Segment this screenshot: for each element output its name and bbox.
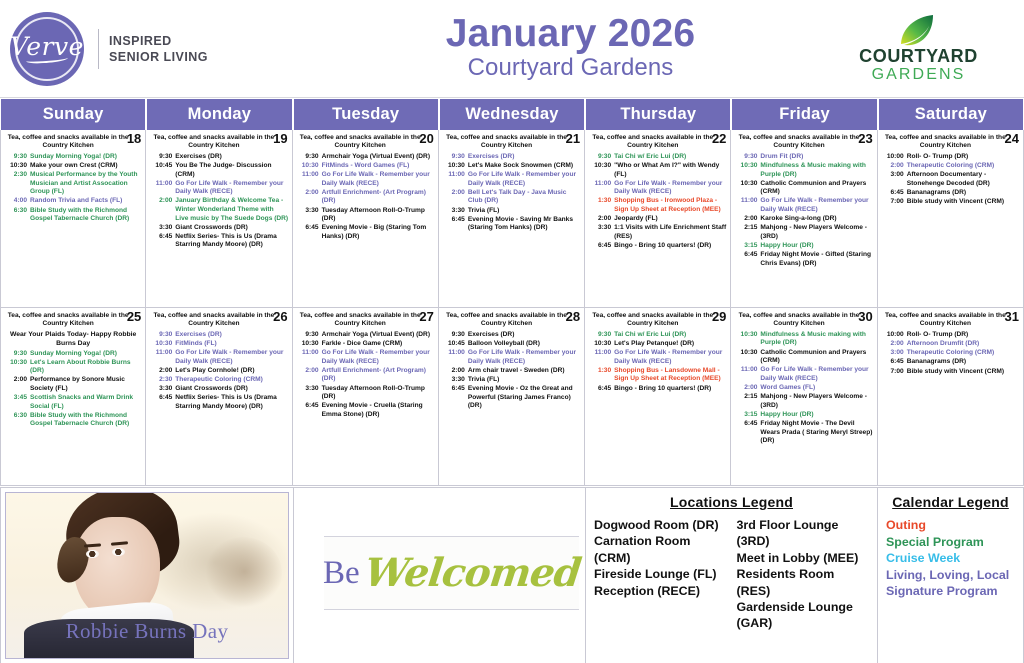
event-description: Go For Life Walk - Remember your Daily W… xyxy=(468,349,581,366)
calendar-event[interactable]: 6:45Netflix Series- This is Us (Drama St… xyxy=(149,394,288,411)
event-description: Word Games (FL) xyxy=(760,384,873,393)
event-description: Scottish Snacks and Warm Drink Social (F… xyxy=(30,394,142,411)
event-description: 1:1 Visits with Life Enrichment Staff (R… xyxy=(614,224,727,241)
calendar-event[interactable]: 11:00Go For Life Walk - Remember your Da… xyxy=(149,349,288,366)
day-number: 27 xyxy=(419,310,433,323)
calendar-event[interactable]: 2:00Performance by Sonore Music Society … xyxy=(4,376,142,393)
calendar-event[interactable]: 9:30Sunday Morning Yoga! (DR) xyxy=(4,153,142,162)
calendar-event[interactable]: 6:45Evening Movie - Saving Mr Banks (Sta… xyxy=(442,216,581,233)
event-description: Exercises (DR) xyxy=(175,153,288,162)
calendar-event[interactable]: 10:30FitMinds (FL) xyxy=(149,340,288,349)
event-time: 11:00 xyxy=(296,171,322,188)
event-description: Roll- O- Trump (DR) xyxy=(907,153,1020,162)
calendar-event[interactable]: 9:30Tai Chi w/ Eric Lui (DR) xyxy=(588,153,727,162)
locations-col-1: Dogwood Room (DR) Carnation Room (CRM) F… xyxy=(594,517,727,632)
event-time: 2:00 xyxy=(296,367,322,384)
event-time: 3:00 xyxy=(881,171,907,188)
calendar-event[interactable]: 3:30Giant Crosswords (DR) xyxy=(149,224,288,233)
event-description: Jeopardy (FL) xyxy=(614,215,727,224)
event-description: Tuesday Afternoon Roll-O-Trump (DR) xyxy=(322,207,435,224)
calendar-event[interactable]: 10:00Roll- O- Trump (DR) xyxy=(881,153,1020,162)
be-welcomed-panel: Be Welcomed xyxy=(294,488,586,663)
calendar-event[interactable]: 6:45Evening Movie - Big (Staring Tom Han… xyxy=(296,224,435,241)
event-description: Shopping Bus - Ironwood Plaza - Sign Up … xyxy=(614,197,727,214)
event-time: 6:45 xyxy=(296,402,322,419)
event-time: 10:30 xyxy=(734,180,760,197)
event-description: Mahjong - New Players Welcome - (3RD) xyxy=(760,393,873,410)
event-description: Let's Learn About Robbie Burns (DR) xyxy=(30,359,142,376)
event-description: Therapeutic Coloring (CRM) xyxy=(907,162,1020,171)
event-description: Let's Make Sock Snowmen (CRM) xyxy=(468,162,581,171)
event-time: 11:00 xyxy=(588,349,614,366)
event-time: 10:30 xyxy=(4,162,30,171)
event-time: 10:30 xyxy=(588,162,614,179)
community-name: Courtyard Gardens xyxy=(310,54,831,83)
calendar-week-row: 25Tea, coffee and snacks available in th… xyxy=(0,308,1024,486)
calendar-event[interactable]: 10:30FitMinds - Word Games (FL) xyxy=(296,162,435,171)
verve-tagline: INSPIRED SENIOR LIVING xyxy=(109,33,208,65)
calendar-event[interactable]: 2:15Mahjong - New Players Welcome - (3RD… xyxy=(734,224,873,241)
event-time: 4:00 xyxy=(4,197,30,206)
calendar-event[interactable]: 10:30Let's Make Sock Snowmen (CRM) xyxy=(442,162,581,171)
calendar-event[interactable]: 2:00Jeopardy (FL) xyxy=(588,215,727,224)
calendar-event[interactable]: 2:00Let's Play Cornhole! (DR) xyxy=(149,367,288,376)
event-time: 11:00 xyxy=(149,349,175,366)
locations-col-2: 3rd Floor Lounge (3RD) Meet in Lobby (ME… xyxy=(737,517,870,632)
event-description: Artfull Enrichment- (Art Program) (DR) xyxy=(322,367,435,384)
page-header: Verve INSPIRED SENIOR LIVING January 202… xyxy=(0,0,1024,98)
event-time: 10:45 xyxy=(149,162,175,179)
event-description: Trivia (FL) xyxy=(468,207,581,216)
event-time: 9:30 xyxy=(588,153,614,162)
event-time: 6:45 xyxy=(881,358,907,367)
calendar-event[interactable]: 6:30Bible Study with the Richmond Gospel… xyxy=(4,207,142,224)
calendar-event[interactable]: 6:45Friday Night Movie - Gifted (Staring… xyxy=(734,251,873,268)
be-welcomed-banner: Be Welcomed xyxy=(324,536,579,610)
event-time: 2:00 xyxy=(734,384,760,393)
calendar-event[interactable]: 6:45Netflix Series- This is Us (Drama St… xyxy=(149,233,288,250)
calendar-event[interactable]: 2:00Word Games (FL) xyxy=(734,384,873,393)
be-welcomed-prefix: Be xyxy=(323,555,360,592)
calendar-day-cell[interactable]: 30Tea, coffee and snacks available in th… xyxy=(731,308,877,485)
event-description: Bible Study with the Richmond Gospel Tab… xyxy=(30,412,142,429)
feature-image-caption: Robbie Burns Day xyxy=(6,619,288,644)
calendar-event[interactable]: 2:00Afternoon Drumfit (DR) xyxy=(881,340,1020,349)
calendar-event[interactable]: 2:00Therapeutic Coloring (CRM) xyxy=(881,162,1020,171)
location-item: Dogwood Room (DR) xyxy=(594,517,727,533)
event-time: 3:30 xyxy=(588,224,614,241)
tagline-line-1: INSPIRED xyxy=(109,33,208,49)
calendar-event[interactable]: 9:30Armchair Yoga (Virtual Event) (DR) xyxy=(296,331,435,340)
event-description: Let's Play Petanque! (DR) xyxy=(614,340,727,349)
calendar-event[interactable]: 3:30Giant Crosswords (DR) xyxy=(149,385,288,394)
event-time: 2:30 xyxy=(149,376,175,385)
event-description: Afternoon Drumfit (DR) xyxy=(907,340,1020,349)
courtyard-sub: GARDENS xyxy=(872,66,966,84)
event-time: 10:30 xyxy=(734,162,760,179)
event-time: 9:30 xyxy=(149,153,175,162)
tea-coffee-note: Tea, coffee and snacks available in the … xyxy=(149,311,288,331)
event-description: Mindfulness & Music making with Purple (… xyxy=(760,162,873,179)
calendar-event[interactable]: 2:00Arm chair travel - Sweden (DR) xyxy=(442,367,581,376)
weekday-monday: Monday xyxy=(147,99,291,130)
event-time: 2:00 xyxy=(149,197,175,223)
calendar-day-cell[interactable]: 19Tea, coffee and snacks available in th… xyxy=(146,130,292,307)
event-description: Bingo - Bring 10 quarters! (DR) xyxy=(614,385,727,394)
event-time: 2:00 xyxy=(881,340,907,349)
tea-coffee-note: Tea, coffee and snacks available in the … xyxy=(442,133,581,153)
day-number: 19 xyxy=(273,132,287,145)
calendar-event[interactable]: 10:30Catholic Communion and Prayers (CRM… xyxy=(734,180,873,197)
event-description: Go For Life Walk - Remember your Daily W… xyxy=(175,349,288,366)
event-time: 10:00 xyxy=(881,153,907,162)
event-time: 9:30 xyxy=(734,153,760,162)
calendar-event[interactable]: 11:00Go For Life Walk - Remember your Da… xyxy=(588,180,727,197)
day-number: 25 xyxy=(127,310,141,323)
calendar-event[interactable]: 11:00Go For Life Walk - Remember your Da… xyxy=(296,349,435,366)
event-description: Go For Life Walk - Remember your Daily W… xyxy=(322,171,435,188)
event-description: Go For Life Walk - Remember your Daily W… xyxy=(760,197,873,214)
tagline-line-2: SENIOR LIVING xyxy=(109,49,208,65)
event-description: Happy Hour (DR) xyxy=(760,242,873,251)
event-time: 10:30 xyxy=(734,331,760,348)
calendar-event[interactable]: 6:45Evening Movie - Cruella (Staring Emm… xyxy=(296,402,435,419)
calendar-event[interactable]: 3:30Trivia (FL) xyxy=(442,207,581,216)
event-time: 2:00 xyxy=(149,367,175,376)
calendar-event[interactable]: 4:00Random Trivia and Facts (FL) xyxy=(4,197,142,206)
event-description: FitMinds (FL) xyxy=(175,340,288,349)
event-time: 3:30 xyxy=(149,224,175,233)
day-number: 21 xyxy=(566,132,580,145)
calendar-event[interactable]: 10:30Catholic Communion and Prayers (CRM… xyxy=(734,349,873,366)
event-time: 6:45 xyxy=(588,385,614,394)
calendar-event[interactable]: 2:00Karoke Sing-a-long (DR) xyxy=(734,215,873,224)
event-description: Tuesday Afternoon Roll-O-Trump (DR) xyxy=(322,385,435,402)
event-time: 6:45 xyxy=(296,224,322,241)
event-description: Therapeutic Coloring (CRM) xyxy=(907,349,1020,358)
calendar-event[interactable]: 7:00Bible study with Vincent (CRM) xyxy=(881,198,1020,207)
calendar-event[interactable]: 10:30Let's Learn About Robbie Burns (DR) xyxy=(4,359,142,376)
calendar-event[interactable]: 6:30Bible Study with the Richmond Gospel… xyxy=(4,412,142,429)
footer-panels: Robbie Burns Day Be Welcomed Locations L… xyxy=(0,487,1024,663)
location-item: Reception (RECE) xyxy=(594,583,727,599)
weekday-thursday: Thursday xyxy=(586,99,730,130)
calendar-event[interactable]: 2:00January Birthday & Welcome Tea - Win… xyxy=(149,197,288,223)
event-time: 11:00 xyxy=(734,366,760,383)
calendar-event[interactable]: 9:30Exercises (DR) xyxy=(442,153,581,162)
calendar-event[interactable]: 6:45Evening Movie - Oz the Great and Pow… xyxy=(442,385,581,411)
event-time: 3:30 xyxy=(442,376,468,385)
event-time: 10:30 xyxy=(734,349,760,366)
event-description: Bingo - Bring 10 quarters! (DR) xyxy=(614,242,727,251)
event-time: 6:45 xyxy=(149,233,175,250)
calendar-event[interactable]: 11:00Go For Life Walk - Remember your Da… xyxy=(734,366,873,383)
calendar-day-cell[interactable]: 21Tea, coffee and snacks available in th… xyxy=(439,130,585,307)
calendar-event[interactable]: 11:00Go For Life Walk - Remember your Da… xyxy=(442,171,581,188)
calendar-day-cell[interactable]: 22Tea, coffee and snacks available in th… xyxy=(585,130,731,307)
verve-swoosh-icon xyxy=(26,54,68,63)
event-description: Performance by Sonore Music Society (FL) xyxy=(30,376,142,393)
event-description: January Birthday & Welcome Tea - Winter … xyxy=(175,197,288,223)
event-time: 2:00 xyxy=(588,215,614,224)
calendar-day-cell[interactable]: 25Tea, coffee and snacks available in th… xyxy=(0,308,146,485)
day-number: 23 xyxy=(858,132,872,145)
leaf-icon xyxy=(899,13,939,47)
event-time: 10:30 xyxy=(4,359,30,376)
event-description: Catholic Communion and Prayers (CRM) xyxy=(760,349,873,366)
event-description: Roll- O- Trump (DR) xyxy=(907,331,1020,340)
tea-coffee-note: Tea, coffee and snacks available in the … xyxy=(588,311,727,331)
calendar-event[interactable]: 1:30Shopping Bus - Ironwood Plaza - Sign… xyxy=(588,197,727,214)
calendar-event[interactable]: 3:301:1 Visits with Life Enrichment Staf… xyxy=(588,224,727,241)
calendar-event[interactable]: 11:00Go For Life Walk - Remember your Da… xyxy=(588,349,727,366)
calendar-event[interactable]: 6:45Bananagrams (DR) xyxy=(881,189,1020,198)
event-description: Exercises (DR) xyxy=(468,153,581,162)
event-time: 3:15 xyxy=(734,242,760,251)
event-description: Balloon Volleyball (DR) xyxy=(468,340,581,349)
event-time: 2:00 xyxy=(296,189,322,206)
event-description: Go For Life Walk - Remember your Daily W… xyxy=(468,171,581,188)
event-description: FitMinds - Word Games (FL) xyxy=(322,162,435,171)
event-description: Afternoon Documentary - Stonehenge Decod… xyxy=(907,171,1020,188)
calendar-event[interactable]: 11:00Go For Life Walk - Remember your Da… xyxy=(734,197,873,214)
tea-coffee-note: Tea, coffee and snacks available in the … xyxy=(588,133,727,153)
event-time: 7:00 xyxy=(881,198,907,207)
event-description: Giant Crosswords (DR) xyxy=(175,224,288,233)
location-item: Carnation Room (CRM) xyxy=(594,533,727,566)
calendar-day-cell[interactable]: 31Tea, coffee and snacks available in th… xyxy=(878,308,1024,485)
calendar-event[interactable]: 3:15Happy Hour (DR) xyxy=(734,411,873,420)
event-description: Trivia (FL) xyxy=(468,376,581,385)
event-time: 6:45 xyxy=(734,251,760,268)
event-time: 2:00 xyxy=(4,376,30,393)
calendar-event[interactable]: 2:00Artfull Enrichment- (Art Program) (D… xyxy=(296,189,435,206)
calendar-event[interactable]: 9:30Sunday Morning Yoga! (DR) xyxy=(4,350,142,359)
event-description: Karoke Sing-a-long (DR) xyxy=(760,215,873,224)
calendar-event[interactable]: 10:30Make your own Crest (CRM) xyxy=(4,162,142,171)
event-time: 3:30 xyxy=(149,385,175,394)
tea-coffee-note: Tea, coffee and snacks available in the … xyxy=(149,133,288,153)
calendar-event[interactable]: 9:30Exercises (DR) xyxy=(149,331,288,340)
calendar-day-cell[interactable]: 27Tea, coffee and snacks available in th… xyxy=(293,308,439,485)
calendar-event[interactable]: 11:00Go For Life Walk - Remember your Da… xyxy=(296,171,435,188)
event-description: Bible Study with the Richmond Gospel Tab… xyxy=(30,207,142,224)
event-description: Therapeutic Coloring (CRM) xyxy=(175,376,288,385)
event-time: 9:30 xyxy=(4,350,30,359)
day-number: 31 xyxy=(1005,310,1019,323)
calendar-event[interactable]: 3:15Happy Hour (DR) xyxy=(734,242,873,251)
event-time: 9:30 xyxy=(296,153,322,162)
tea-coffee-note: Tea, coffee and snacks available in the … xyxy=(296,133,435,153)
calendar-event[interactable]: 3:30Tuesday Afternoon Roll-O-Trump (DR) xyxy=(296,385,435,402)
event-description: Armchair Yoga (Virtual Event) (DR) xyxy=(322,153,435,162)
calendar-event[interactable]: 9:30Exercises (DR) xyxy=(442,331,581,340)
event-time: 10:30 xyxy=(588,340,614,349)
event-description: Tai Chi w/ Eric Lui (DR) xyxy=(614,153,727,162)
calendar-legend-item: Outing xyxy=(886,517,1015,534)
calendar-event[interactable]: 1:30Shopping Bus - Lansdowne Mall - Sign… xyxy=(588,367,727,384)
courtyard-name: COURTYARD xyxy=(859,47,978,66)
event-time: 1:30 xyxy=(588,197,614,214)
event-description: Drum Fit (DR) xyxy=(760,153,873,162)
event-time: 2:15 xyxy=(734,224,760,241)
calendar-event[interactable]: 3:30Tuesday Afternoon Roll-O-Trump (DR) xyxy=(296,207,435,224)
day-number: 22 xyxy=(712,132,726,145)
event-time: 9:30 xyxy=(296,331,322,340)
portrait-background-tree xyxy=(204,537,282,609)
event-time: 3:30 xyxy=(296,207,322,224)
tea-coffee-note: Tea, coffee and snacks available in the … xyxy=(734,133,873,153)
calendar-legend-item: Living, Loving, Local Signature Program xyxy=(886,567,1015,600)
event-description: Farkle - Dice Game (CRM) xyxy=(322,340,435,349)
event-time: 10:30 xyxy=(296,162,322,171)
calendar-day-cell[interactable]: 26Tea, coffee and snacks available in th… xyxy=(146,308,292,485)
event-time: 2:00 xyxy=(442,367,468,376)
event-description: Bananagrams (DR) xyxy=(907,189,1020,198)
calendar-event[interactable]: 9:30Drum Fit (DR) xyxy=(734,153,873,162)
calendar-event[interactable]: 9:30Tai Chi w/ Eric Lui (DR) xyxy=(588,331,727,340)
day-number: 30 xyxy=(858,310,872,323)
calendar-event[interactable]: 6:45Bananagrams (DR) xyxy=(881,358,1020,367)
feature-image-panel: Robbie Burns Day xyxy=(0,488,294,663)
portrait-eye-right xyxy=(112,548,125,556)
calendar-event[interactable]: 6:45Bingo - Bring 10 quarters! (DR) xyxy=(588,385,727,394)
event-description: Go For Life Walk - Remember your Daily W… xyxy=(614,349,727,366)
calendar-event[interactable]: 11:00Go For Life Walk - Remember your Da… xyxy=(149,180,288,197)
event-time: 2:00 xyxy=(881,162,907,171)
calendar-event[interactable]: 10:45Balloon Volleyball (DR) xyxy=(442,340,581,349)
event-time: 9:30 xyxy=(4,153,30,162)
event-description: Let's Play Cornhole! (DR) xyxy=(175,367,288,376)
logo-divider xyxy=(98,29,99,69)
calendar-event[interactable]: 2:00Artfull Enrichment- (Art Program) (D… xyxy=(296,367,435,384)
event-description: Arm chair travel - Sweden (DR) xyxy=(468,367,581,376)
event-time: 10:30 xyxy=(442,162,468,171)
calendar-day-cell[interactable]: 28Tea, coffee and snacks available in th… xyxy=(439,308,585,485)
calendar-event[interactable]: 10:30Mindfulness & Music making with Pur… xyxy=(734,331,873,348)
calendar-event[interactable]: 10:30Mindfulness & Music making with Pur… xyxy=(734,162,873,179)
event-description: Go For Life Walk - Remember your Daily W… xyxy=(175,180,288,197)
calendar-week-row: 18Tea, coffee and snacks available in th… xyxy=(0,130,1024,308)
calendar-month: January 2026 xyxy=(310,14,831,54)
calendar-event[interactable]: 2:30Therapeutic Coloring (CRM) xyxy=(149,376,288,385)
calendar-event[interactable]: 11:00Go For Life Walk - Remember your Da… xyxy=(442,349,581,366)
calendar-legend-list: OutingSpecial ProgramCruise WeekLiving, … xyxy=(878,517,1023,600)
tea-coffee-note: Tea, coffee and snacks available in the … xyxy=(296,311,435,331)
calendar-event[interactable]: 3:00Therapeutic Coloring (CRM) xyxy=(881,349,1020,358)
calendar-event[interactable]: 2:00Bell Let's Talk Day - Java Music Clu… xyxy=(442,189,581,206)
event-time: 11:00 xyxy=(588,180,614,197)
event-time: 2:00 xyxy=(442,189,468,206)
weekday-friday: Friday xyxy=(732,99,876,130)
event-time: 3:00 xyxy=(881,349,907,358)
event-description: Giant Crosswords (DR) xyxy=(175,385,288,394)
verve-logo: Verve INSPIRED SENIOR LIVING xyxy=(10,12,310,86)
calendar-event[interactable]: 3:30Trivia (FL) xyxy=(442,376,581,385)
event-description: Bananagrams (DR) xyxy=(907,358,1020,367)
event-description: Exercises (DR) xyxy=(175,331,288,340)
weekday-tuesday: Tuesday xyxy=(294,99,438,130)
calendar-event[interactable]: 10:00Roll- O- Trump (DR) xyxy=(881,331,1020,340)
calendar-day-cell[interactable]: 23Tea, coffee and snacks available in th… xyxy=(731,130,877,307)
event-time: 3:30 xyxy=(442,207,468,216)
event-time: 10:30 xyxy=(149,340,175,349)
event-description: You Be The Judge- Discussion (CRM) xyxy=(175,162,288,179)
calendar-day-cell[interactable]: 29Tea, coffee and snacks available in th… xyxy=(585,308,731,485)
event-description: Go For Life Walk - Remember your Daily W… xyxy=(322,349,435,366)
event-description: Mahjong - New Players Welcome - (3RD) xyxy=(760,224,873,241)
event-time: 3:45 xyxy=(4,394,30,411)
calendar-event[interactable]: 2:15Mahjong - New Players Welcome - (3RD… xyxy=(734,393,873,410)
tea-coffee-note: Tea, coffee and snacks available in the … xyxy=(734,311,873,331)
calendar-event[interactable]: 10:45You Be The Judge- Discussion (CRM) xyxy=(149,162,288,179)
tea-coffee-note: Tea, coffee and snacks available in the … xyxy=(442,311,581,331)
event-time: 10:30 xyxy=(296,340,322,349)
event-time: 3:15 xyxy=(734,411,760,420)
day-special-note: Wear Your Plaids Today- Happy Robbie Bur… xyxy=(4,331,142,349)
event-time: 2:00 xyxy=(734,215,760,224)
event-description: Random Trivia and Facts (FL) xyxy=(30,197,142,206)
event-description: Sunday Morning Yoga! (DR) xyxy=(30,153,142,162)
event-time: 11:00 xyxy=(442,171,468,188)
event-description: Evening Movie - Oz the Great and Powerfu… xyxy=(468,385,581,411)
event-description: Sunday Morning Yoga! (DR) xyxy=(30,350,142,359)
event-description: Armchair Yoga (Virtual Event) (DR) xyxy=(322,331,435,340)
event-time: 1:30 xyxy=(588,367,614,384)
day-number: 20 xyxy=(419,132,433,145)
event-time: 11:00 xyxy=(442,349,468,366)
calendar-event[interactable]: 10:30Farkle - Dice Game (CRM) xyxy=(296,340,435,349)
calendar-event[interactable]: 10:30"Who or What Am I?" with Wendy (FL) xyxy=(588,162,727,179)
event-description: Catholic Communion and Prayers (CRM) xyxy=(760,180,873,197)
event-time: 6:45 xyxy=(442,385,468,411)
event-description: Evening Movie - Big (Staring Tom Hanks) … xyxy=(322,224,435,241)
calendar-event[interactable]: 6:45Friday Night Movie - The Devil Wears… xyxy=(734,420,873,446)
event-description: Netflix Series- This is Us (Drama Starri… xyxy=(175,233,288,250)
calendar-event[interactable]: 6:45Bingo - Bring 10 quarters! (DR) xyxy=(588,242,727,251)
calendar-event[interactable]: 9:30Exercises (DR) xyxy=(149,153,288,162)
calendar-event[interactable]: 7:00Bible study with Vincent (CRM) xyxy=(881,368,1020,377)
verve-circle-icon: Verve xyxy=(10,12,84,86)
calendar-legend-title: Calendar Legend xyxy=(878,494,1023,510)
calendar-event[interactable]: 2:30Musical Performance by the Youth Mus… xyxy=(4,171,142,197)
location-item: Residents Room (RES) xyxy=(737,566,870,599)
event-time: 6:45 xyxy=(149,394,175,411)
calendar-legend-item: Cruise Week xyxy=(886,550,1015,567)
calendar-event[interactable]: 3:00Afternoon Documentary - Stonehenge D… xyxy=(881,171,1020,188)
calendar-event[interactable]: 10:30Let's Play Petanque! (DR) xyxy=(588,340,727,349)
calendar-event[interactable]: 9:30Armchair Yoga (Virtual Event) (DR) xyxy=(296,153,435,162)
calendar-day-cell[interactable]: 20Tea, coffee and snacks available in th… xyxy=(293,130,439,307)
event-description: Tai Chi w/ Eric Lui (DR) xyxy=(614,331,727,340)
event-time: 9:30 xyxy=(442,331,468,340)
tea-coffee-note: Tea, coffee and snacks available in the … xyxy=(4,311,142,331)
calendar-day-cell[interactable]: 18Tea, coffee and snacks available in th… xyxy=(0,130,146,307)
day-number: 24 xyxy=(1005,132,1019,145)
calendar-event[interactable]: 3:45Scottish Snacks and Warm Drink Socia… xyxy=(4,394,142,411)
event-time: 6:30 xyxy=(4,207,30,224)
event-time: 11:00 xyxy=(734,197,760,214)
event-description: Exercises (DR) xyxy=(468,331,581,340)
event-time: 2:15 xyxy=(734,393,760,410)
location-item: Meet in Lobby (MEE) xyxy=(737,550,870,566)
event-description: Artfull Enrichment- (Art Program) (DR) xyxy=(322,189,435,206)
locations-legend-title: Locations Legend xyxy=(586,494,877,510)
day-number: 29 xyxy=(712,310,726,323)
event-time: 9:30 xyxy=(588,331,614,340)
event-description: Happy Hour (DR) xyxy=(760,411,873,420)
calendar-day-cell[interactable]: 24Tea, coffee and snacks available in th… xyxy=(878,130,1024,307)
